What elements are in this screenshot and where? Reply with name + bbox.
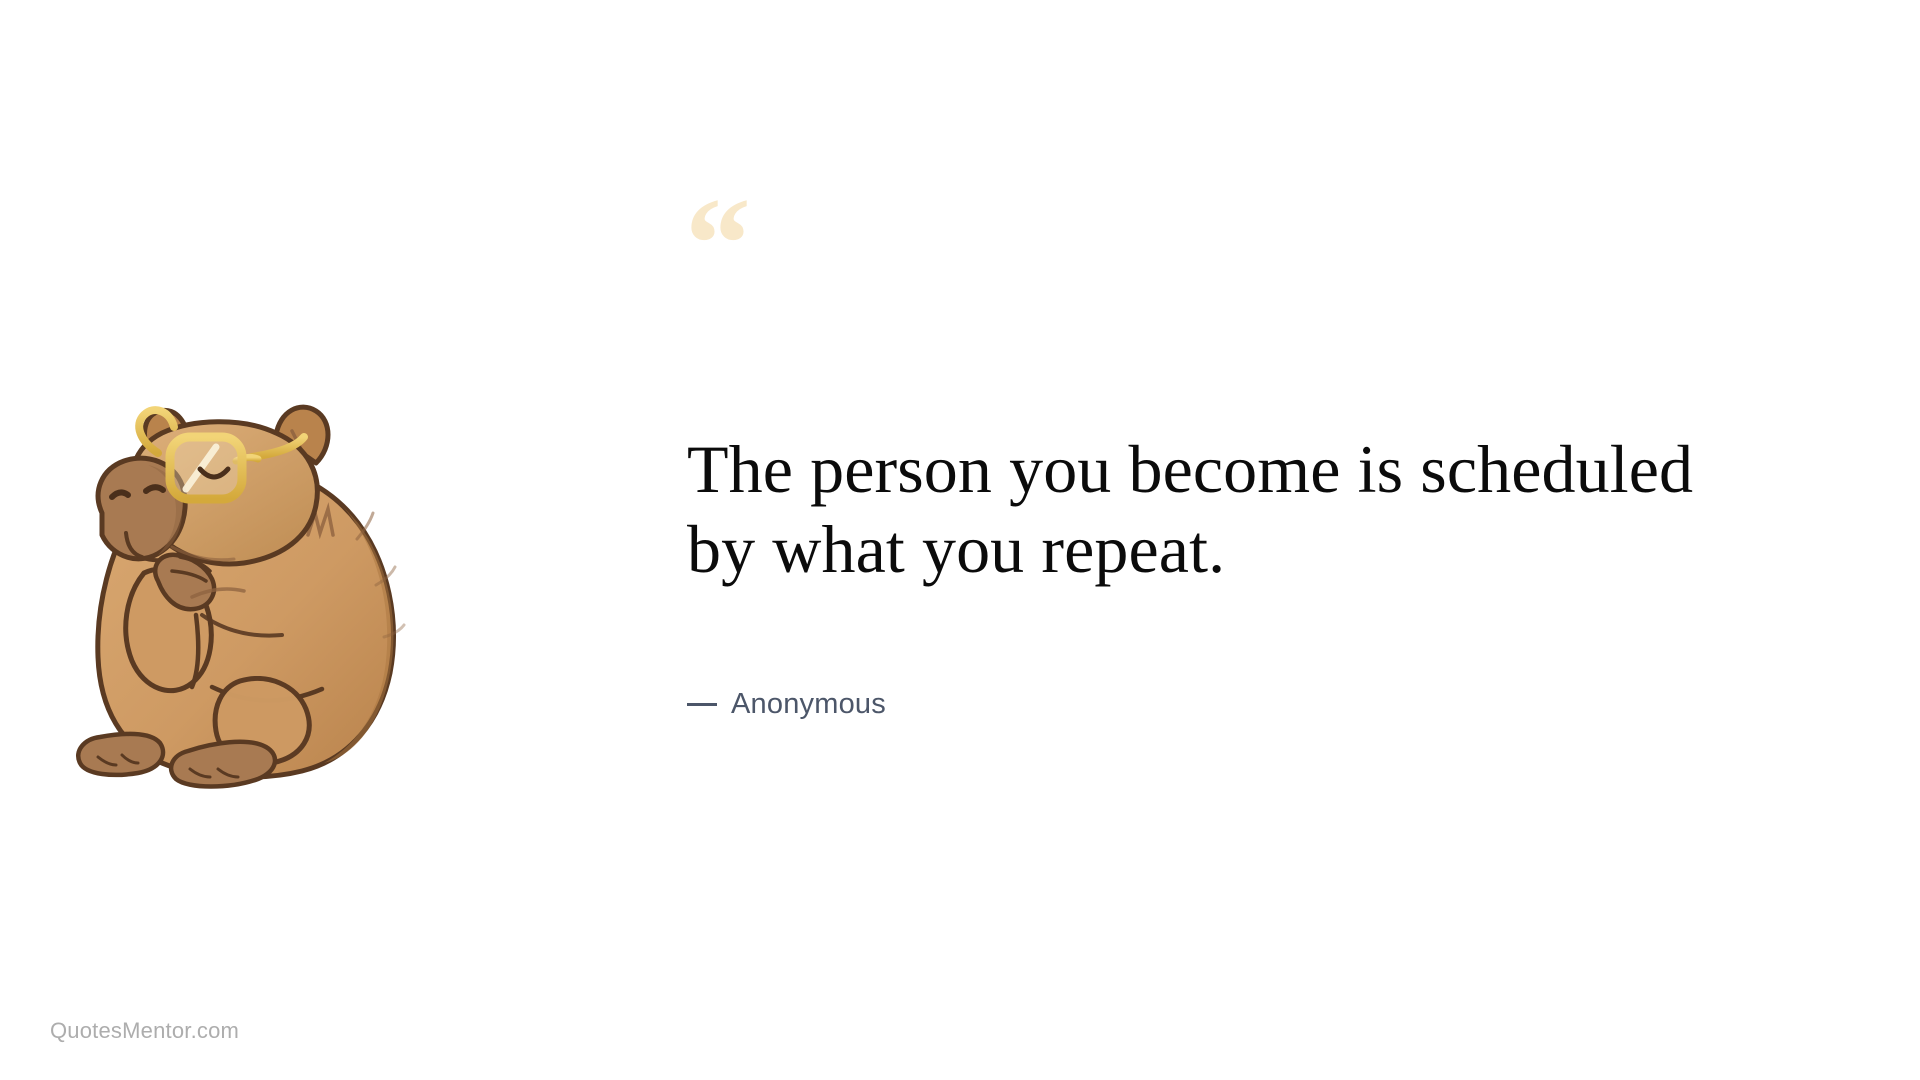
quote-card: “ The person you become is scheduled by … bbox=[0, 0, 1920, 1080]
capybara-illustration bbox=[40, 285, 420, 795]
quote-attribution: Anonymous bbox=[687, 688, 886, 721]
open-quote-icon: “ bbox=[685, 178, 749, 310]
quote-content: “ The person you become is scheduled by … bbox=[685, 0, 1745, 1080]
attribution-author: Anonymous bbox=[731, 688, 886, 721]
site-watermark: QuotesMentor.com bbox=[50, 1018, 239, 1044]
capybara-icon bbox=[40, 285, 420, 795]
attribution-dash-icon bbox=[687, 703, 717, 706]
quote-text: The person you become is scheduled by wh… bbox=[687, 430, 1737, 589]
